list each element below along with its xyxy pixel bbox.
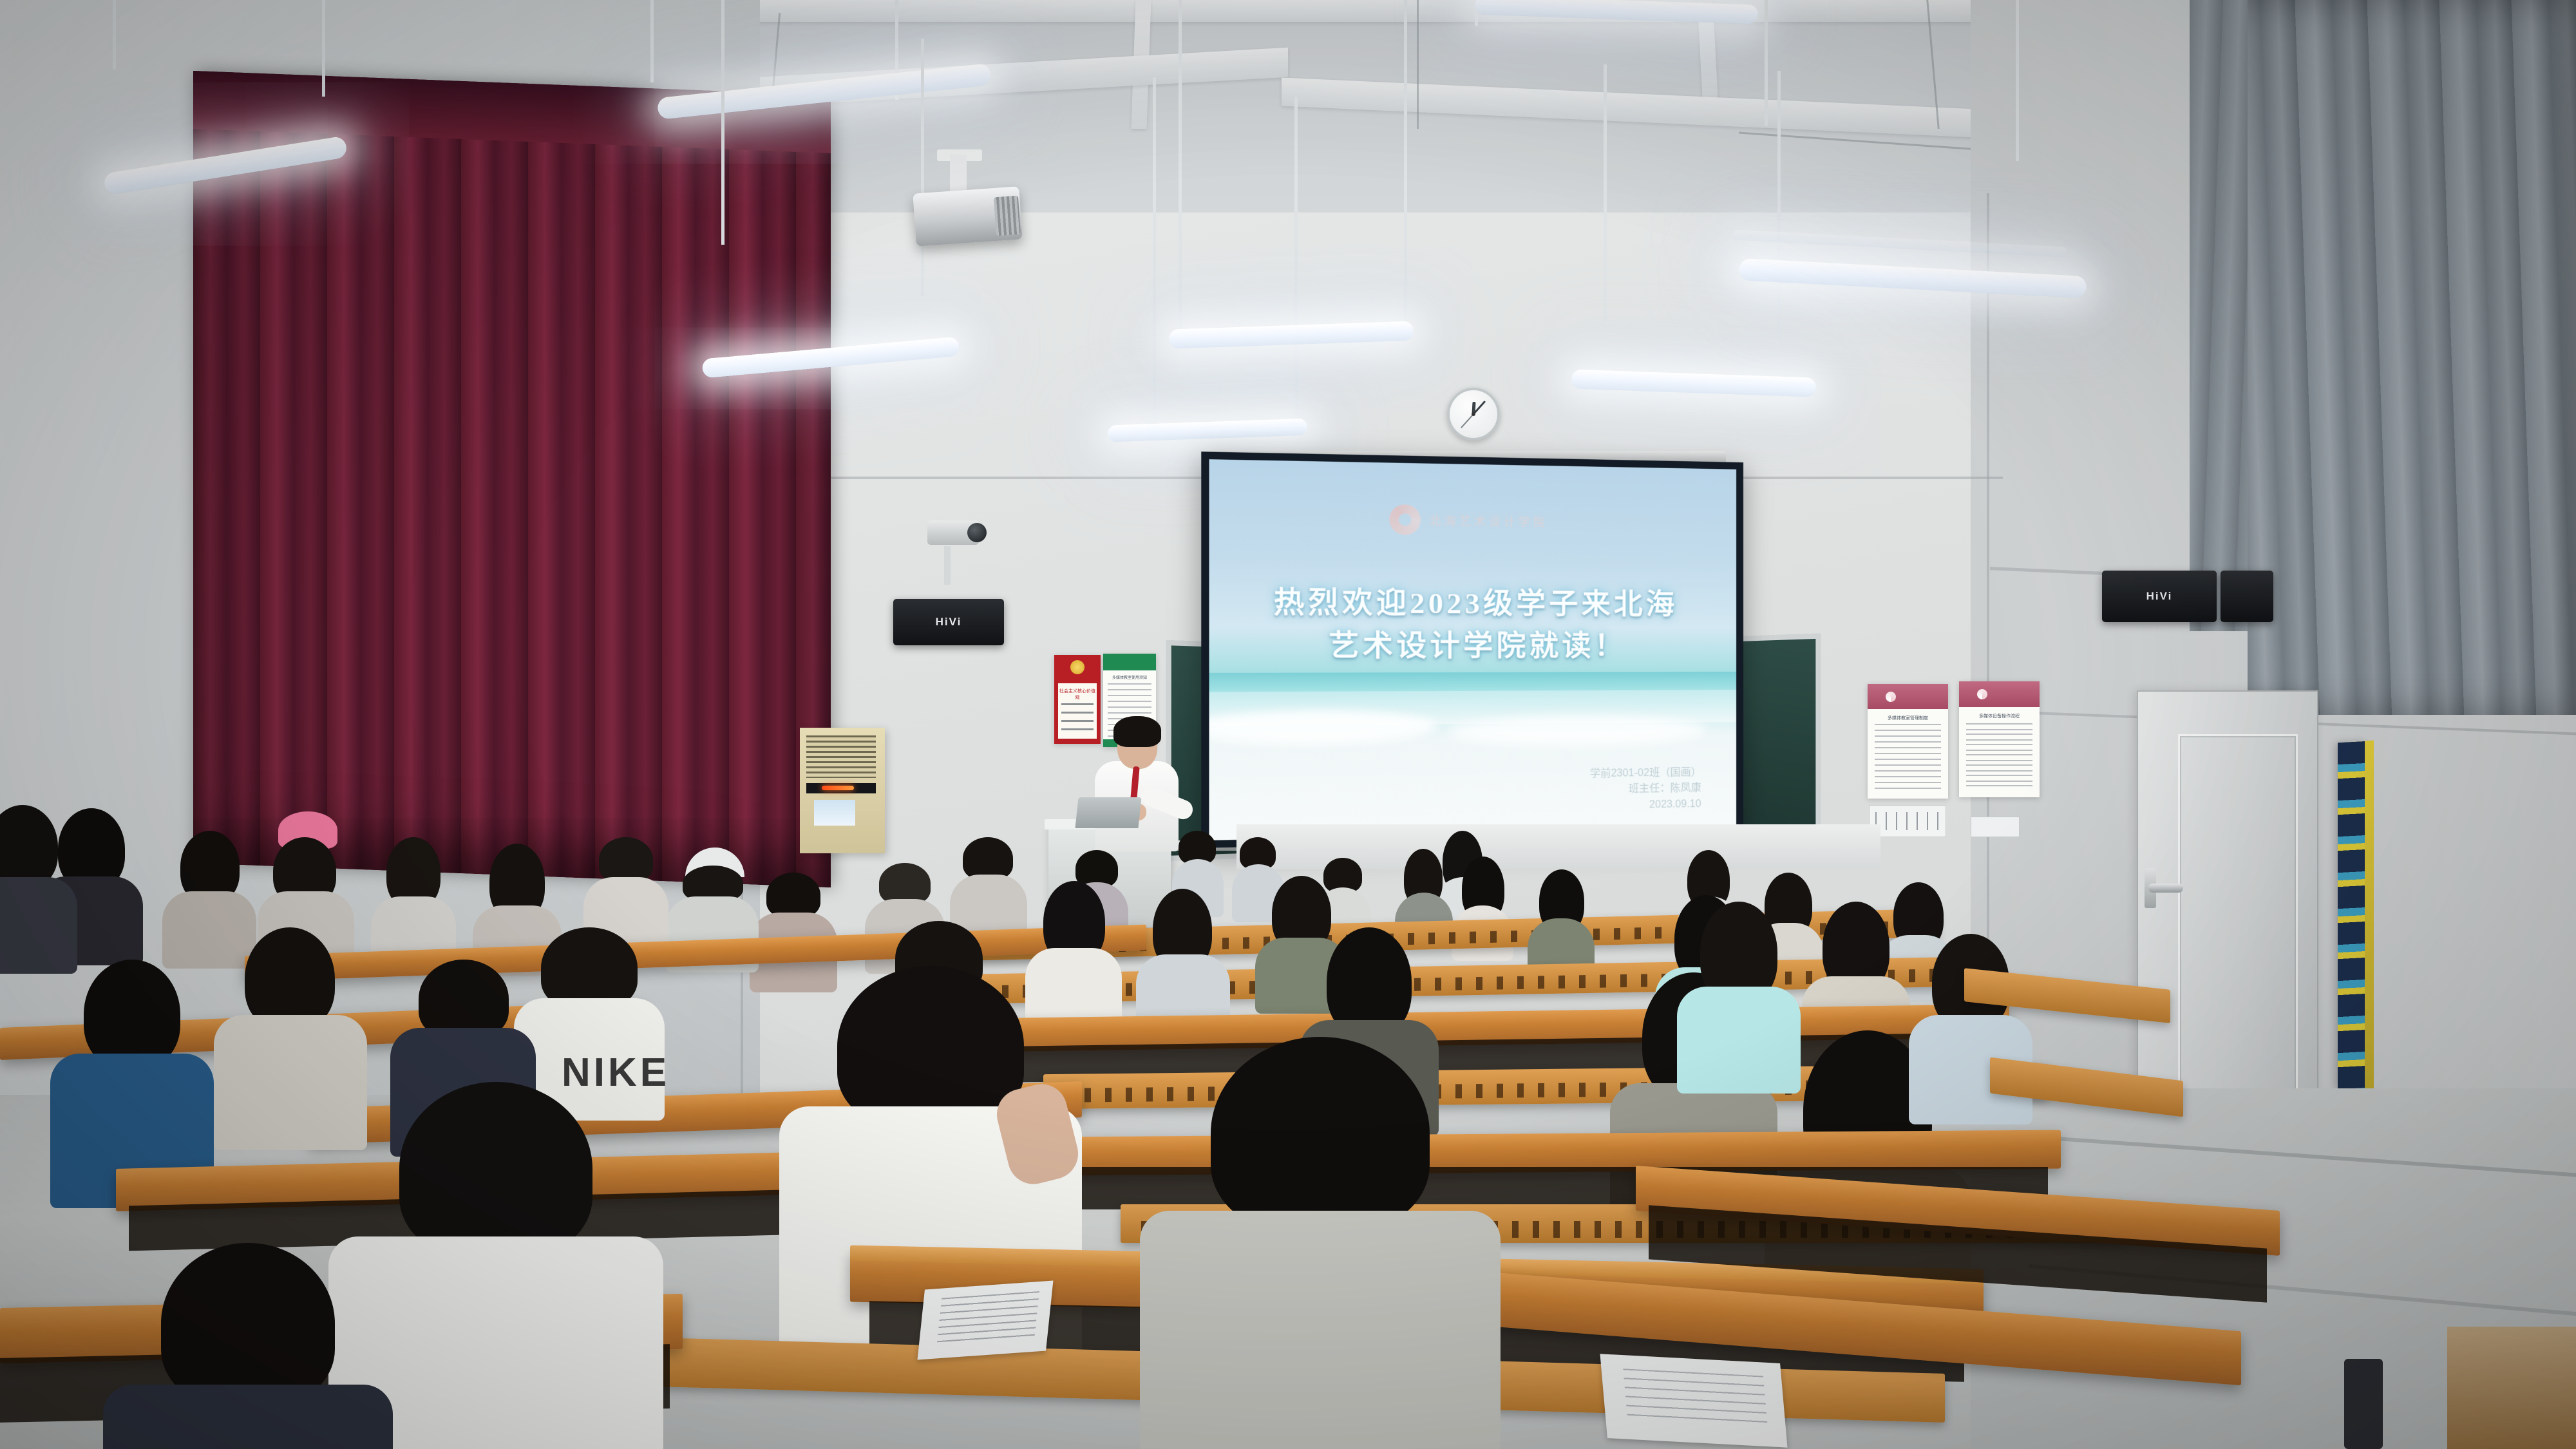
- right-notice-poster-1: 多媒体教室管理制度: [1868, 684, 1948, 799]
- light-hanger-rod: [1153, 77, 1156, 425]
- light-hanger-rod: [721, 0, 724, 245]
- wall-brochure-rack[interactable]: [2338, 741, 2367, 1090]
- poster-lines: [1061, 703, 1094, 734]
- cabinet-vent-grille: [806, 735, 876, 778]
- right-poster-1-title: 多媒体教室管理制度: [1868, 715, 1948, 721]
- green-poster-title: 多媒体教室使用须知: [1103, 674, 1156, 680]
- poster-header: [1868, 684, 1948, 709]
- small-label-card: [1971, 817, 2020, 837]
- slide-foam: [1201, 709, 1437, 745]
- light-hanger-rod: [1765, 0, 1768, 126]
- right-poster-2-title: 多媒体设备操作流程: [1959, 713, 2040, 719]
- poster-lines: [1966, 723, 2032, 790]
- logo-swirl-icon: [1886, 692, 1896, 702]
- emblem-icon: [1070, 660, 1084, 674]
- light-hanger-rod: [322, 0, 325, 97]
- poster-lines: [1875, 724, 1941, 790]
- clock-second-hand: [1461, 413, 1474, 428]
- camera-lens-icon: [967, 523, 987, 542]
- light-hanger-rod: [1604, 64, 1607, 322]
- wall-clock: [1447, 388, 1500, 440]
- door-handle[interactable]: [2148, 884, 2183, 893]
- floor-equipment: [2344, 1359, 2383, 1449]
- clock-center-pin: [1472, 412, 1475, 416]
- light-hanger-rod: [921, 39, 924, 296]
- cabinet-led-indicator: [822, 786, 854, 790]
- slide-meta-class: 学前2301-02班（国画）: [1590, 764, 1701, 782]
- red-poster-title: 社会主义核心价值观: [1058, 688, 1097, 701]
- lecture-hall-photo: 北海艺术设计学院 热烈欢迎2023级学子来北海 艺术设计学院就读！ 学前2301…: [0, 0, 2576, 1449]
- slide-title-line-1: 热烈欢迎2023级学子来北海: [1274, 578, 1678, 622]
- logo-swirl-icon: [1390, 504, 1421, 535]
- right-notice-poster-2: 多媒体设备操作流程: [1959, 681, 2040, 797]
- wiring-diagram-card: [1869, 805, 1946, 837]
- red-core-values-poster: 社会主义核心价值观: [1054, 655, 1101, 744]
- slide-meta-teacher: 班主任：陈凤康: [1590, 781, 1701, 799]
- light-hanger-rod: [2016, 0, 2019, 161]
- poster-header: [1959, 681, 2040, 707]
- poster-header: [1103, 654, 1156, 670]
- wall-speaker-right-2: [2221, 571, 2273, 622]
- nike-shirt-text: NIKE: [562, 1050, 638, 1083]
- projection-screen: 北海艺术设计学院 热烈欢迎2023级学子来北海 艺术设计学院就读！ 学前2301…: [1201, 451, 1743, 848]
- light-hanger-rod: [1179, 0, 1182, 332]
- wall-speaker-left: HiVi: [893, 599, 1004, 645]
- slide-meta-block: 学前2301-02班（国画） 班主任：陈凤康 2023.09.10: [1590, 764, 1701, 815]
- brochure-rack-edge: [2365, 741, 2374, 1092]
- ceiling-grid-line: [1417, 0, 1419, 129]
- speaker-brand-label: HiVi: [936, 616, 962, 629]
- light-hanger-rod: [113, 0, 116, 70]
- handout-paper[interactable]: [1600, 1354, 1787, 1447]
- door-panel: [2178, 734, 2298, 1124]
- logo-swirl-icon: [1977, 689, 1987, 699]
- paper-text-lines: [937, 1291, 1039, 1343]
- speaker-brand-label: HiVi: [2146, 590, 2173, 603]
- right-window-curtain: [2248, 0, 2576, 715]
- slide-sea-band: [1209, 672, 1736, 692]
- diagram-lines: [1875, 812, 1939, 831]
- slide-title-line-2: 艺术设计学院就读！: [1329, 621, 1627, 665]
- light-hanger-rod: [1404, 0, 1407, 335]
- chair-frame: [2447, 1327, 2576, 1449]
- paper-text-lines: [1623, 1368, 1768, 1426]
- slide-institution-logo: 北海艺术设计学院: [1390, 504, 1548, 536]
- poster-body: 社会主义核心价值观: [1058, 683, 1097, 739]
- light-hanger-rod: [650, 0, 654, 82]
- slide-meta-date: 2023.09.10: [1590, 797, 1701, 815]
- left-window-curtain: [193, 71, 831, 887]
- light-hanger-rod: [1294, 97, 1298, 438]
- light-hanger-rod: [1777, 71, 1781, 341]
- projector-vent: [994, 196, 1021, 236]
- presenter-hair: [1113, 716, 1161, 747]
- registration-form-paper[interactable]: [918, 1280, 1054, 1359]
- camera-stem: [944, 546, 951, 585]
- logo-text: 北海艺术设计学院: [1429, 511, 1548, 529]
- presenter-laptop[interactable]: [1075, 797, 1141, 828]
- cabinet-label-sticker: [814, 800, 855, 826]
- wall-speaker-right: HiVi: [2102, 571, 2217, 622]
